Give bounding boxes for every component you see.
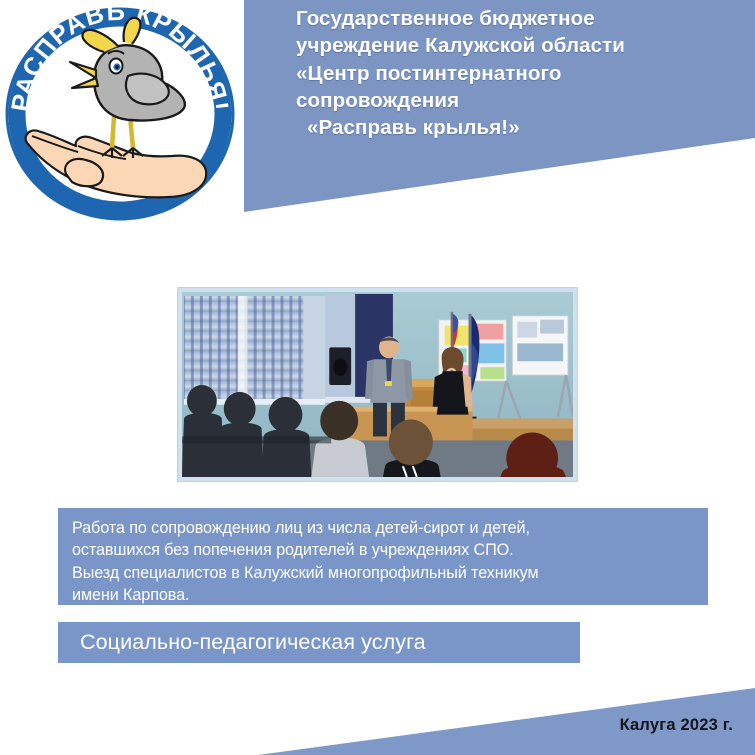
presentation-slide: Государственное бюджетное учреждение Кал… xyxy=(0,0,755,755)
description-line-3: Выезд специалистов в Калужский многопроф… xyxy=(72,562,694,584)
service-type-block: Социально-педагогическая услуга xyxy=(58,622,580,663)
title-line-5: «Расправь крылья!» xyxy=(296,114,746,141)
title-line-3: «Центр постинтернатного xyxy=(296,60,746,87)
service-type-label: Социально-педагогическая услуга xyxy=(80,630,426,655)
title-line-2: учреждение Калужской области xyxy=(296,32,746,59)
title-line-1: Государственное бюджетное xyxy=(296,5,746,32)
title-line-4: сопровождения xyxy=(296,87,746,114)
footer-banner xyxy=(0,670,755,755)
description-block: Работа по сопровождению лиц из числа дет… xyxy=(58,508,708,605)
description-line-2: оставшихся без попечения родителей в учр… xyxy=(72,539,694,561)
description-line-4: имени Карпова. xyxy=(72,584,694,606)
event-photo xyxy=(182,292,573,477)
description-line-1: Работа по сопровождению лиц из числа дет… xyxy=(72,517,694,539)
page-title: Государственное бюджетное учреждение Кал… xyxy=(296,5,746,141)
photo-frame xyxy=(177,287,578,482)
organization-logo: РАСПРАВЬ КРЫЛЬЯ! xyxy=(2,0,238,224)
footer-place-year: Калуга 2023 г. xyxy=(620,716,733,735)
